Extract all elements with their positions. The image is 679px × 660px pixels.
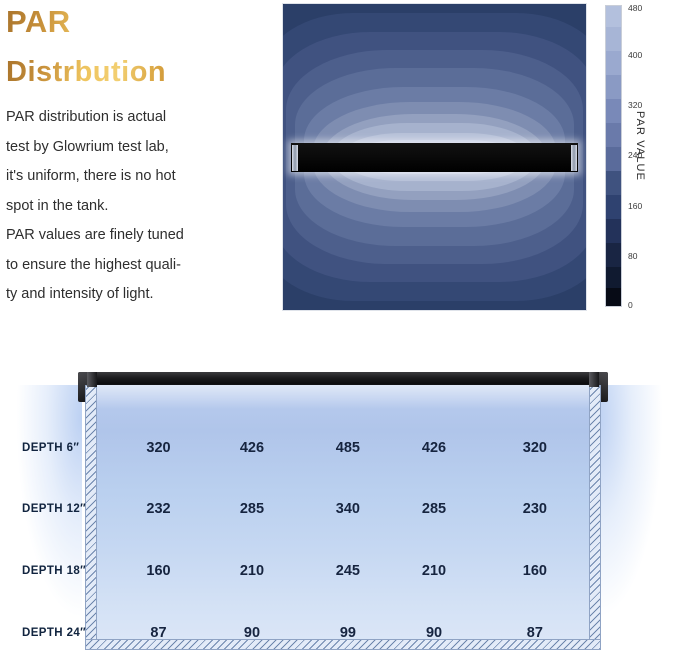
tank-par-diagram: DEPTH 6″ DEPTH 12″ DEPTH 18″ DEPTH 24″ 3… bbox=[0, 345, 679, 660]
description-text: PAR distribution is actual test by Glowr… bbox=[6, 103, 274, 310]
description-line: to ensure the highest quali- bbox=[6, 251, 274, 281]
par-value: 90 bbox=[426, 625, 442, 641]
depth-label-6: DEPTH 6″ bbox=[22, 442, 79, 454]
par-value: 210 bbox=[422, 563, 446, 579]
depth-label-24: DEPTH 24″ bbox=[22, 627, 86, 639]
par-value: 485 bbox=[336, 440, 360, 456]
colorbar-tick: 80 bbox=[628, 251, 637, 261]
par-value: 87 bbox=[527, 625, 543, 641]
description-line: ty and intensity of light. bbox=[6, 280, 274, 310]
tank-bracket-left bbox=[87, 372, 97, 387]
description-line: PAR distribution is actual bbox=[6, 103, 274, 133]
depth-label-12: DEPTH 12″ bbox=[22, 503, 86, 515]
par-value: 90 bbox=[244, 625, 260, 641]
page-title-line-1: PAR bbox=[6, 2, 276, 42]
description-line: test by Glowrium test lab, bbox=[6, 133, 274, 163]
page-title: PAR Distrbution bbox=[6, 2, 276, 92]
par-value: 232 bbox=[146, 501, 170, 517]
par-value: 245 bbox=[336, 563, 360, 579]
par-value: 426 bbox=[422, 440, 446, 456]
description-line: spot in the tank. bbox=[6, 192, 274, 222]
colorbar-axis-label: PAR VALUE bbox=[634, 111, 646, 181]
par-value-grid: 320 426 485 426 320 232 285 340 285 230 … bbox=[97, 385, 589, 650]
colorbar-legend: 480 400 320 240 160 80 0 PAR VALUE bbox=[604, 3, 679, 311]
light-glow-left bbox=[0, 385, 82, 655]
par-distribution-page: PAR Distrbution PAR distribution is actu… bbox=[0, 0, 679, 660]
colorbar-gradient bbox=[605, 5, 622, 307]
par-value: 160 bbox=[146, 563, 170, 579]
par-value: 87 bbox=[150, 625, 166, 641]
depth-label-18: DEPTH 18″ bbox=[22, 565, 86, 577]
tank-wall-right bbox=[589, 385, 601, 650]
colorbar-tick: 320 bbox=[628, 100, 642, 110]
colorbar-tick: 480 bbox=[628, 3, 642, 13]
par-value: 340 bbox=[336, 501, 360, 517]
light-bar-endcap-left bbox=[292, 145, 298, 171]
light-bar-endcap-right bbox=[571, 145, 577, 171]
light-bar-overlay bbox=[291, 143, 579, 172]
tank-bracket-right bbox=[589, 372, 599, 387]
par-value: 285 bbox=[422, 501, 446, 517]
light-glow-right bbox=[597, 385, 679, 655]
tank-wall-left bbox=[85, 385, 97, 650]
par-value: 320 bbox=[146, 440, 170, 456]
par-value: 426 bbox=[240, 440, 264, 456]
description-line: PAR values are finely tuned bbox=[6, 221, 274, 251]
par-value: 210 bbox=[240, 563, 264, 579]
par-value: 285 bbox=[240, 501, 264, 517]
par-contour-plot bbox=[282, 3, 587, 311]
par-value: 320 bbox=[523, 440, 547, 456]
page-title-line-2: Distrbution bbox=[6, 52, 276, 92]
par-value: 230 bbox=[523, 501, 547, 517]
colorbar-tick: 0 bbox=[628, 300, 633, 310]
contour-bands bbox=[283, 4, 586, 310]
description-line: it's uniform, there is no hot bbox=[6, 162, 274, 192]
par-value: 99 bbox=[340, 625, 356, 641]
intro-panel: PAR Distrbution PAR distribution is actu… bbox=[0, 0, 280, 320]
colorbar-tick: 400 bbox=[628, 50, 642, 60]
par-value: 160 bbox=[523, 563, 547, 579]
colorbar-tick: 160 bbox=[628, 201, 642, 211]
